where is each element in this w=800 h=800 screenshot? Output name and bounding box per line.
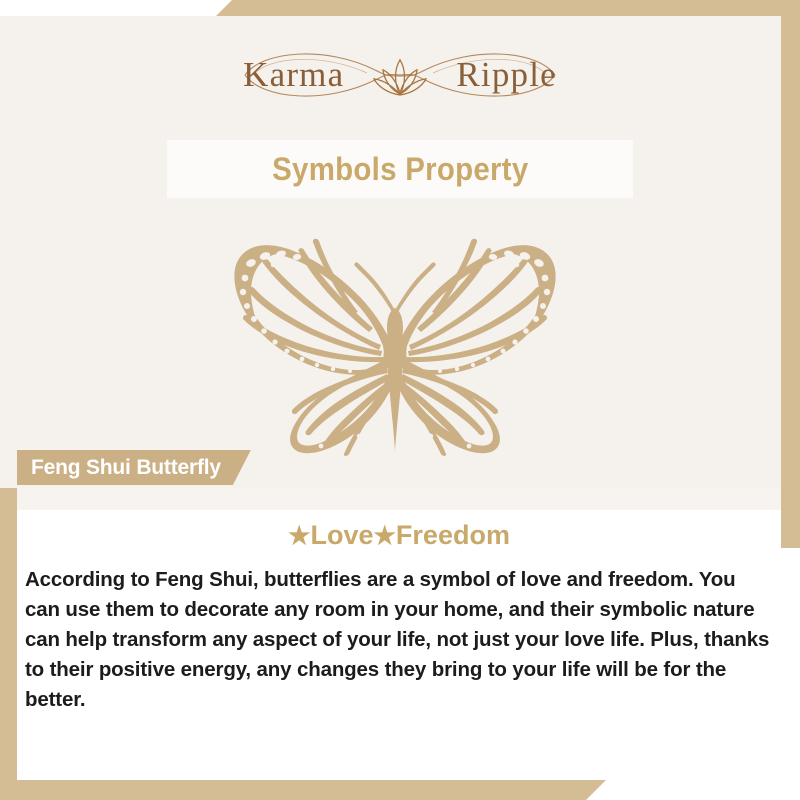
product-infographic-card: KarmaRipple Symbols Property — [0, 0, 800, 800]
tagline: ★Love★Freedom — [17, 520, 781, 551]
mid-panel-background — [17, 488, 781, 510]
brand-logo: KarmaRipple — [0, 36, 800, 114]
page-title: Symbols Property — [272, 151, 528, 188]
hero-image — [0, 228, 790, 458]
star-icon-left: ★ — [288, 522, 310, 550]
hero-caption-banner: Feng Shui Butterfly — [17, 450, 251, 485]
frame-top-border — [215, 0, 800, 17]
tagline-word-love: Love — [310, 520, 373, 550]
star-icon-mid: ★ — [374, 522, 396, 550]
frame-bottom-border — [0, 780, 606, 800]
butterfly-icon — [207, 230, 583, 456]
tagline-word-freedom: Freedom — [396, 520, 510, 550]
hero-caption-label: Feng Shui Butterfly — [31, 456, 221, 480]
section-title-band: Symbols Property — [167, 140, 633, 198]
logo-word-karma: Karma — [243, 55, 344, 94]
description-section: ★Love★Freedom According to Feng Shui, bu… — [17, 510, 781, 715]
logo-word-ripple: Ripple — [456, 55, 557, 94]
description-body: According to Feng Shui, butterflies are … — [17, 565, 781, 715]
